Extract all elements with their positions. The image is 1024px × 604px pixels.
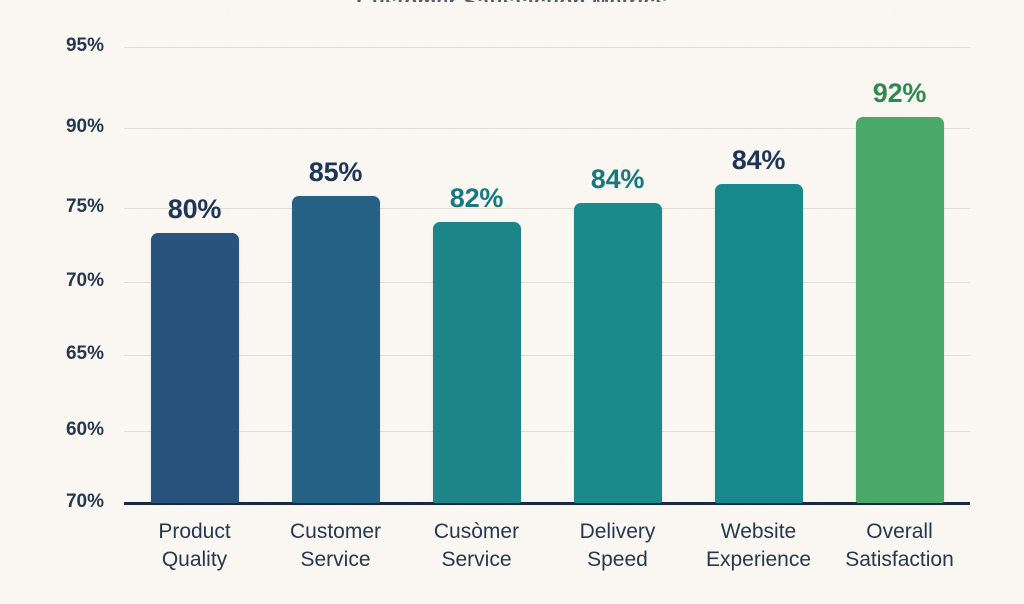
x-axis-tick-label-line: Product <box>124 518 265 546</box>
x-axis-tick-label-line: Quality <box>124 546 265 574</box>
x-axis-tick-label-line: Satisfaction <box>829 546 970 574</box>
x-axis-tick-label-line: Overall <box>829 518 970 546</box>
y-axis-tick-label: 90% <box>12 116 104 138</box>
bar-value-label: 82% <box>450 183 503 214</box>
chart-title-cropped: Customer Satisfaction Metrics <box>0 0 1024 2</box>
bar[interactable] <box>715 184 803 503</box>
x-axis-tick-label: ProductQuality <box>124 518 265 574</box>
x-axis-tick-label-line: Delivery <box>547 518 688 546</box>
x-axis-tick-label-line: Speed <box>547 546 688 574</box>
bar-value-label: 85% <box>309 157 362 188</box>
x-axis-tick-label: OverallSatisfaction <box>829 518 970 574</box>
x-axis-tick-label: DeliverySpeed <box>547 518 688 574</box>
x-axis-tick-label-line: Cusòmer <box>406 518 547 546</box>
bar-slot: 82% <box>433 16 521 503</box>
x-axis-tick-label-line: Website <box>688 518 829 546</box>
x-axis-tick-label-line: Customer <box>265 518 406 546</box>
x-axis-tick-label: WebsiteExperience <box>688 518 829 574</box>
plot-area: 95%90%75%70%65%60%70% 80%85%82%84%84%92% <box>124 16 970 503</box>
y-axis-tick-label: 75% <box>12 196 104 218</box>
bar-slot: 84% <box>715 16 803 503</box>
bar-value-label: 84% <box>591 164 644 195</box>
bar[interactable] <box>292 196 380 503</box>
bar-value-label: 92% <box>873 78 926 109</box>
y-axis-tick-label: 95% <box>12 35 104 57</box>
y-axis-tick-label: 60% <box>12 419 104 441</box>
x-axis-tick-label: CustomerService <box>265 518 406 574</box>
bar-series: 80%85%82%84%84%92% <box>124 16 970 503</box>
x-axis-labels: ProductQualityCustomerServiceCusòmerServ… <box>124 518 970 598</box>
bar[interactable] <box>574 203 662 503</box>
bar-slot: 84% <box>574 16 662 503</box>
x-axis-tick-label-line: Experience <box>688 546 829 574</box>
bar[interactable] <box>856 117 944 503</box>
x-axis-tick-label: CusòmerService <box>406 518 547 574</box>
bar[interactable] <box>433 222 521 503</box>
y-axis-tick-label: 70% <box>12 491 104 513</box>
y-axis-tick-label: 70% <box>12 270 104 292</box>
bar-slot: 85% <box>292 16 380 503</box>
chart-figure: Customer Satisfaction Metrics 95%90%75%7… <box>0 0 1024 604</box>
bar-slot: 92% <box>856 16 944 503</box>
x-axis-tick-label-line: Service <box>406 546 547 574</box>
bar-value-label: 80% <box>168 194 221 225</box>
x-axis-tick-label-line: Service <box>265 546 406 574</box>
y-axis-tick-label: 65% <box>12 343 104 365</box>
bar-value-label: 84% <box>732 145 785 176</box>
bar[interactable] <box>151 233 239 503</box>
bar-slot: 80% <box>151 16 239 503</box>
